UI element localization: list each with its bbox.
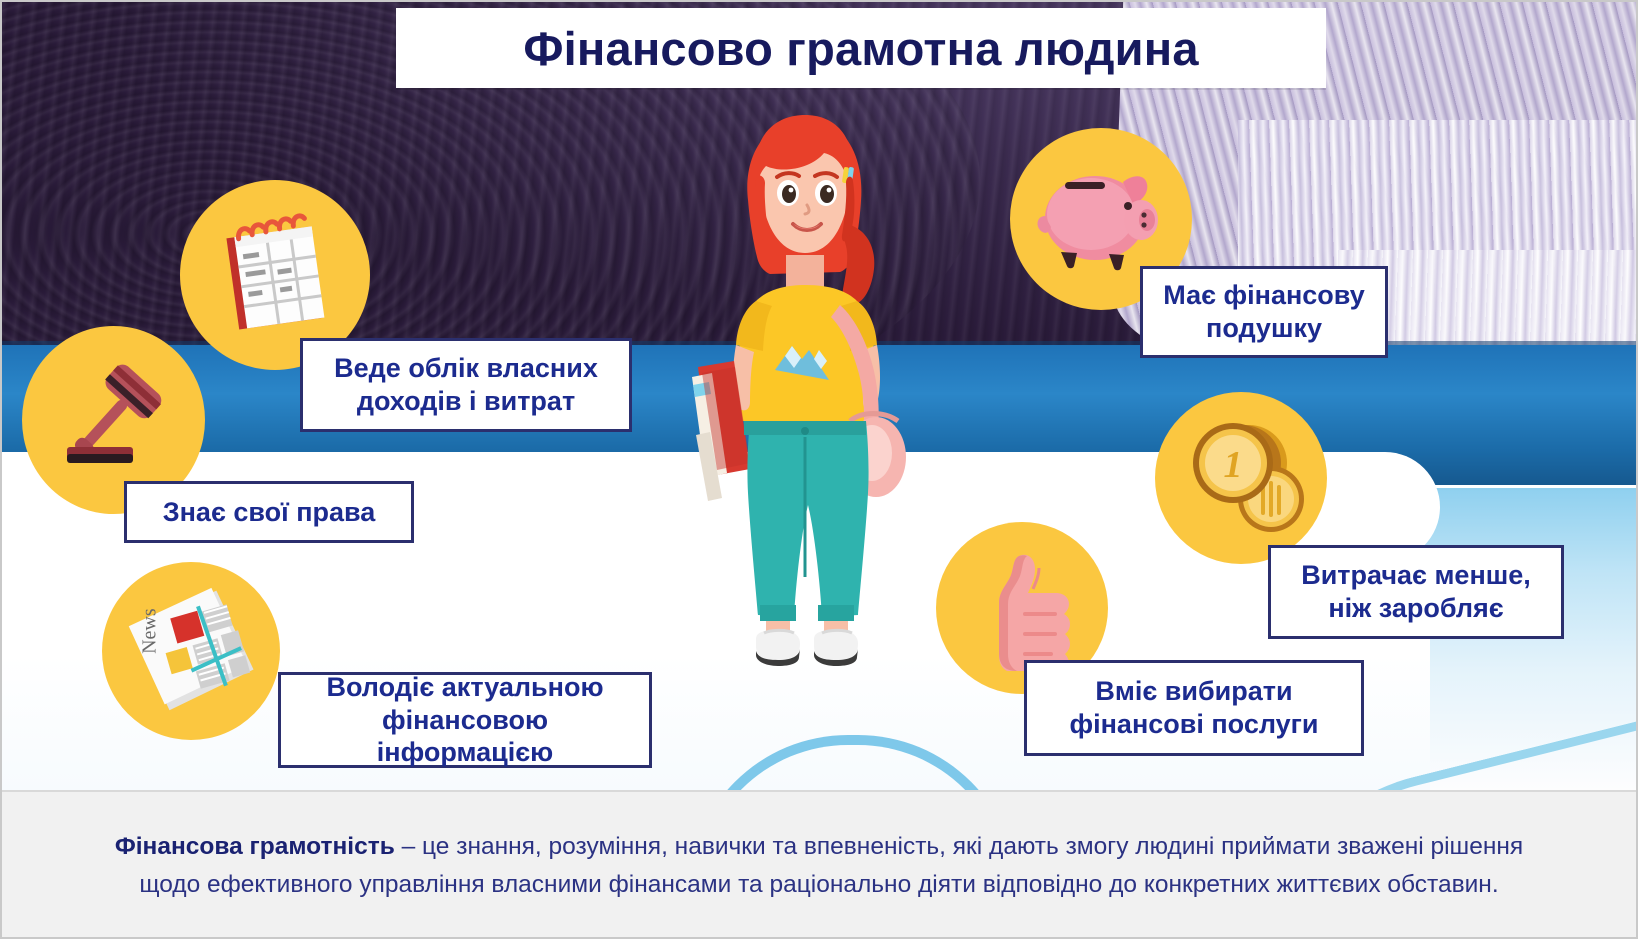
newspaper-glyph: News <box>124 584 258 718</box>
label-line-2: фінансовою інформацією <box>295 704 635 770</box>
infographic-slide: Фінансово грамотна людина <box>0 0 1638 939</box>
label-financial-cushion: Має фінансову подушку <box>1140 266 1388 358</box>
caption-line-2: щодо ефективного управління власними фін… <box>139 866 1498 904</box>
label-line-1: Вміє вибирати <box>1070 675 1319 708</box>
notebook-ledger-glyph <box>210 210 340 340</box>
label-line-2: доходів і витрат <box>334 385 598 418</box>
piggy-bank-glyph <box>1031 154 1171 284</box>
label-spends-less-than-earns: Витрачає менше, ніж заробляє <box>1268 545 1564 639</box>
page-title-text: Фінансово грамотна людина <box>523 21 1198 76</box>
label-line-1: Витрачає менше, <box>1301 559 1531 592</box>
page-title: Фінансово грамотна людина <box>396 8 1326 88</box>
label-line-1: Володіє актуальною <box>295 671 635 704</box>
gavel-glyph <box>49 355 179 485</box>
caption-line-1: Фінансова грамотність – це знання, розум… <box>115 828 1523 866</box>
thumbs-up-glyph <box>959 545 1085 671</box>
label-knows-rights: Знає свої права <box>124 481 414 543</box>
label-income-expense-record: Веде облік власних доходів і витрат <box>300 338 632 432</box>
label-line-2: подушку <box>1163 312 1364 345</box>
caption-term: Фінансова грамотність <box>115 833 395 860</box>
coins-icon: 1 <box>1155 392 1327 564</box>
newspaper-masthead: News <box>138 608 160 654</box>
label-line-2: фінансові послуги <box>1070 708 1319 741</box>
caption-line-1-rest: – це знання, розуміння, навички та впевн… <box>395 833 1523 860</box>
definition-caption: Фінансова грамотність – це знання, розум… <box>0 790 1638 939</box>
coin-face-value: 1 <box>1224 444 1243 486</box>
label-line-1: Знає свої права <box>163 496 376 529</box>
coins-glyph: 1 <box>1171 413 1311 543</box>
girl-illustration <box>660 105 950 680</box>
label-line-1: Веде облік власних <box>334 352 598 385</box>
label-line-1: Має фінансову <box>1163 279 1364 312</box>
newspaper-icon: News <box>102 562 280 740</box>
label-line-2: ніж заробляє <box>1301 592 1531 625</box>
label-current-financial-info: Володіє актуальною фінансовою інформаціє… <box>278 672 652 768</box>
label-chooses-financial-services: Вміє вибирати фінансові послуги <box>1024 660 1364 756</box>
